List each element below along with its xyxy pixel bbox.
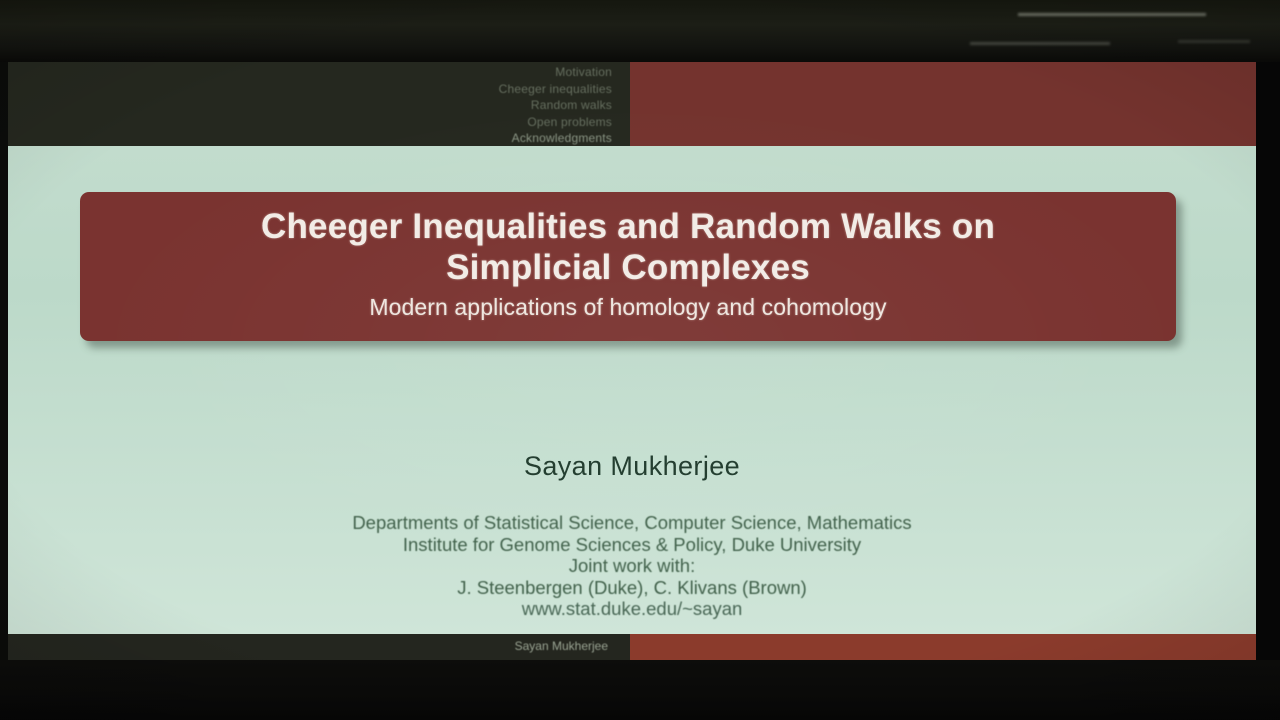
joint-work-collaborators: J. Steenbergen (Duke), C. Klivans (Brown… <box>8 577 1256 599</box>
affiliation-departments: Departments of Statistical Science, Comp… <box>8 512 1256 534</box>
slide-body: Cheeger Inequalities and Random Walks on… <box>8 146 1256 634</box>
slide-header-outline-area: Motivation Cheeger inequalities Random w… <box>8 62 630 146</box>
slide-author-name: Sayan Mukherjee <box>8 451 1256 482</box>
slide-footer-accent-bar <box>630 634 1256 660</box>
slide-footer-band: Sayan Mukherjee <box>8 634 1256 660</box>
slide-header-accent-bar <box>630 62 1256 146</box>
slide-title-line-1: Cheeger Inequalities and Random Walks on <box>100 206 1156 247</box>
author-website-url[interactable]: www.stat.duke.edu/~sayan <box>8 598 1256 620</box>
wall-light-streak <box>1018 13 1206 16</box>
outline-item-acknowledgments[interactable]: Acknowledgments <box>499 130 612 147</box>
outline-item-open-problems[interactable]: Open problems <box>499 114 612 131</box>
slide-outline-nav[interactable]: Motivation Cheeger inequalities Random w… <box>499 62 612 147</box>
room-wall-right-edge <box>1256 62 1280 660</box>
outline-item-random-walks[interactable]: Random walks <box>499 97 612 114</box>
room-wall-above-screen <box>0 0 1280 62</box>
slide-footer-name-area: Sayan Mukherjee <box>8 634 630 660</box>
slide-title-line-2: Simplicial Complexes <box>100 247 1156 288</box>
slide-header-band: Motivation Cheeger inequalities Random w… <box>8 62 1256 146</box>
room-wall-below-screen <box>0 660 1280 720</box>
affiliation-institute: Institute for Genome Sciences & Policy, … <box>8 534 1256 556</box>
slide-subtitle: Modern applications of homology and coho… <box>100 292 1156 323</box>
room-wall-left-edge <box>0 62 8 660</box>
projected-slide-photo: Motivation Cheeger inequalities Random w… <box>0 0 1280 720</box>
outline-item-motivation[interactable]: Motivation <box>499 64 612 81</box>
joint-work-label: Joint work with: <box>8 555 1256 577</box>
slide-title-box: Cheeger Inequalities and Random Walks on… <box>80 192 1176 341</box>
wall-light-streak <box>970 42 1110 45</box>
outline-item-cheeger-inequalities[interactable]: Cheeger inequalities <box>499 81 612 98</box>
presentation-slide: Motivation Cheeger inequalities Random w… <box>8 62 1256 660</box>
wall-light-streak <box>1178 40 1250 43</box>
slide-affiliations-block: Departments of Statistical Science, Comp… <box>8 512 1256 620</box>
footer-author-name: Sayan Mukherjee <box>515 639 608 653</box>
